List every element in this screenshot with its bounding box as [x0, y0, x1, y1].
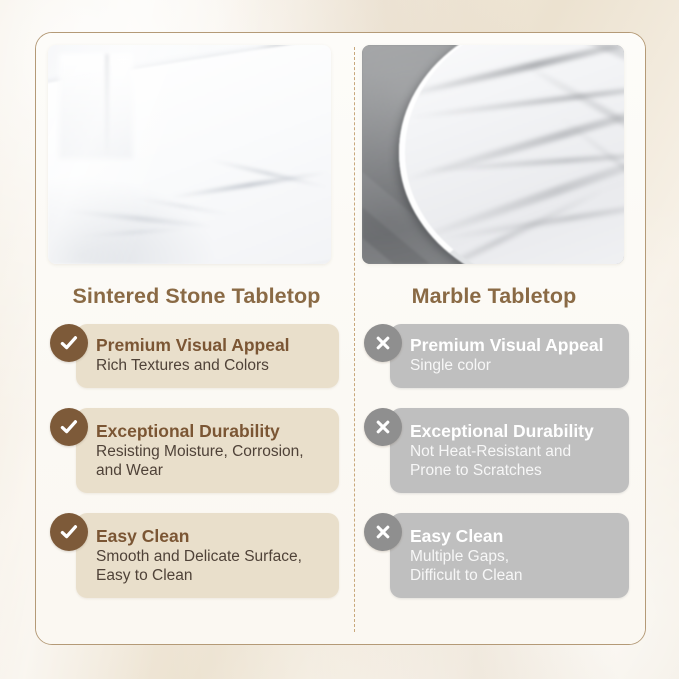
marble-tabletop-image [362, 45, 624, 264]
feature-row: Exceptional Durability Not Heat-Resistan… [364, 408, 629, 493]
feature-title: Premium Visual Appeal [96, 335, 325, 356]
check-icon [50, 324, 88, 362]
comparison-columns: Sintered Stone Tabletop Premium Visual A… [36, 33, 645, 644]
feature-subtitle: Single color [410, 357, 615, 376]
feature-subtitle: Not Heat-Resistant and Prone to Scratche… [410, 443, 615, 481]
feature-subtitle: Smooth and Delicate Surface, Easy to Cle… [96, 548, 325, 586]
column-marble: Marble Tabletop Premium Visual Appeal Si… [353, 33, 645, 644]
feature-row: Easy Clean Multiple Gaps, Difficult to C… [364, 513, 629, 598]
feature-row: Easy Clean Smooth and Delicate Surface, … [50, 513, 339, 598]
feature-subtitle: Rich Textures and Colors [96, 357, 325, 376]
comparison-card: Sintered Stone Tabletop Premium Visual A… [35, 32, 646, 645]
cross-icon [364, 513, 402, 551]
feature-list-sintered-stone: Premium Visual Appeal Rich Textures and … [36, 324, 353, 598]
round-marble-top [399, 45, 624, 264]
feature-subtitle: Multiple Gaps, Difficult to Clean [410, 548, 615, 586]
feature-card: Premium Visual Appeal Single color [390, 324, 629, 388]
feature-title: Exceptional Durability [410, 421, 615, 442]
feature-title: Premium Visual Appeal [410, 335, 615, 356]
check-icon [50, 408, 88, 446]
cross-icon [364, 408, 402, 446]
feature-card: Easy Clean Smooth and Delicate Surface, … [76, 513, 339, 598]
gloss-highlight [48, 45, 331, 264]
feature-list-marble: Premium Visual Appeal Single color Excep… [353, 324, 645, 598]
column-heading-marble: Marble Tabletop [357, 284, 631, 309]
marble-vein [406, 75, 623, 120]
feature-title: Easy Clean [410, 526, 615, 547]
feature-title: Exceptional Durability [96, 421, 325, 442]
marble-photo [362, 45, 624, 264]
check-icon [50, 513, 88, 551]
feature-subtitle: Resisting Moisture, Corrosion, and Wear [96, 443, 325, 481]
feature-row: Premium Visual Appeal Rich Textures and … [50, 324, 339, 388]
marble-texture-layers [362, 45, 624, 264]
feature-card: Easy Clean Multiple Gaps, Difficult to C… [390, 513, 629, 598]
column-heading-sintered-stone: Sintered Stone Tabletop [40, 284, 353, 309]
feature-card: Premium Visual Appeal Rich Textures and … [76, 324, 339, 388]
feature-card: Exceptional Durability Not Heat-Resistan… [390, 408, 629, 493]
column-sintered-stone: Sintered Stone Tabletop Premium Visual A… [36, 33, 353, 644]
sintered-stone-photo [48, 45, 331, 264]
feature-card: Exceptional Durability Resisting Moistur… [76, 408, 339, 493]
cross-icon [364, 324, 402, 362]
feature-row: Exceptional Durability Resisting Moistur… [50, 408, 339, 493]
marble-vein [420, 148, 624, 174]
stone-surface-image [48, 45, 331, 264]
feature-title: Easy Clean [96, 526, 325, 547]
feature-row: Premium Visual Appeal Single color [364, 324, 629, 388]
